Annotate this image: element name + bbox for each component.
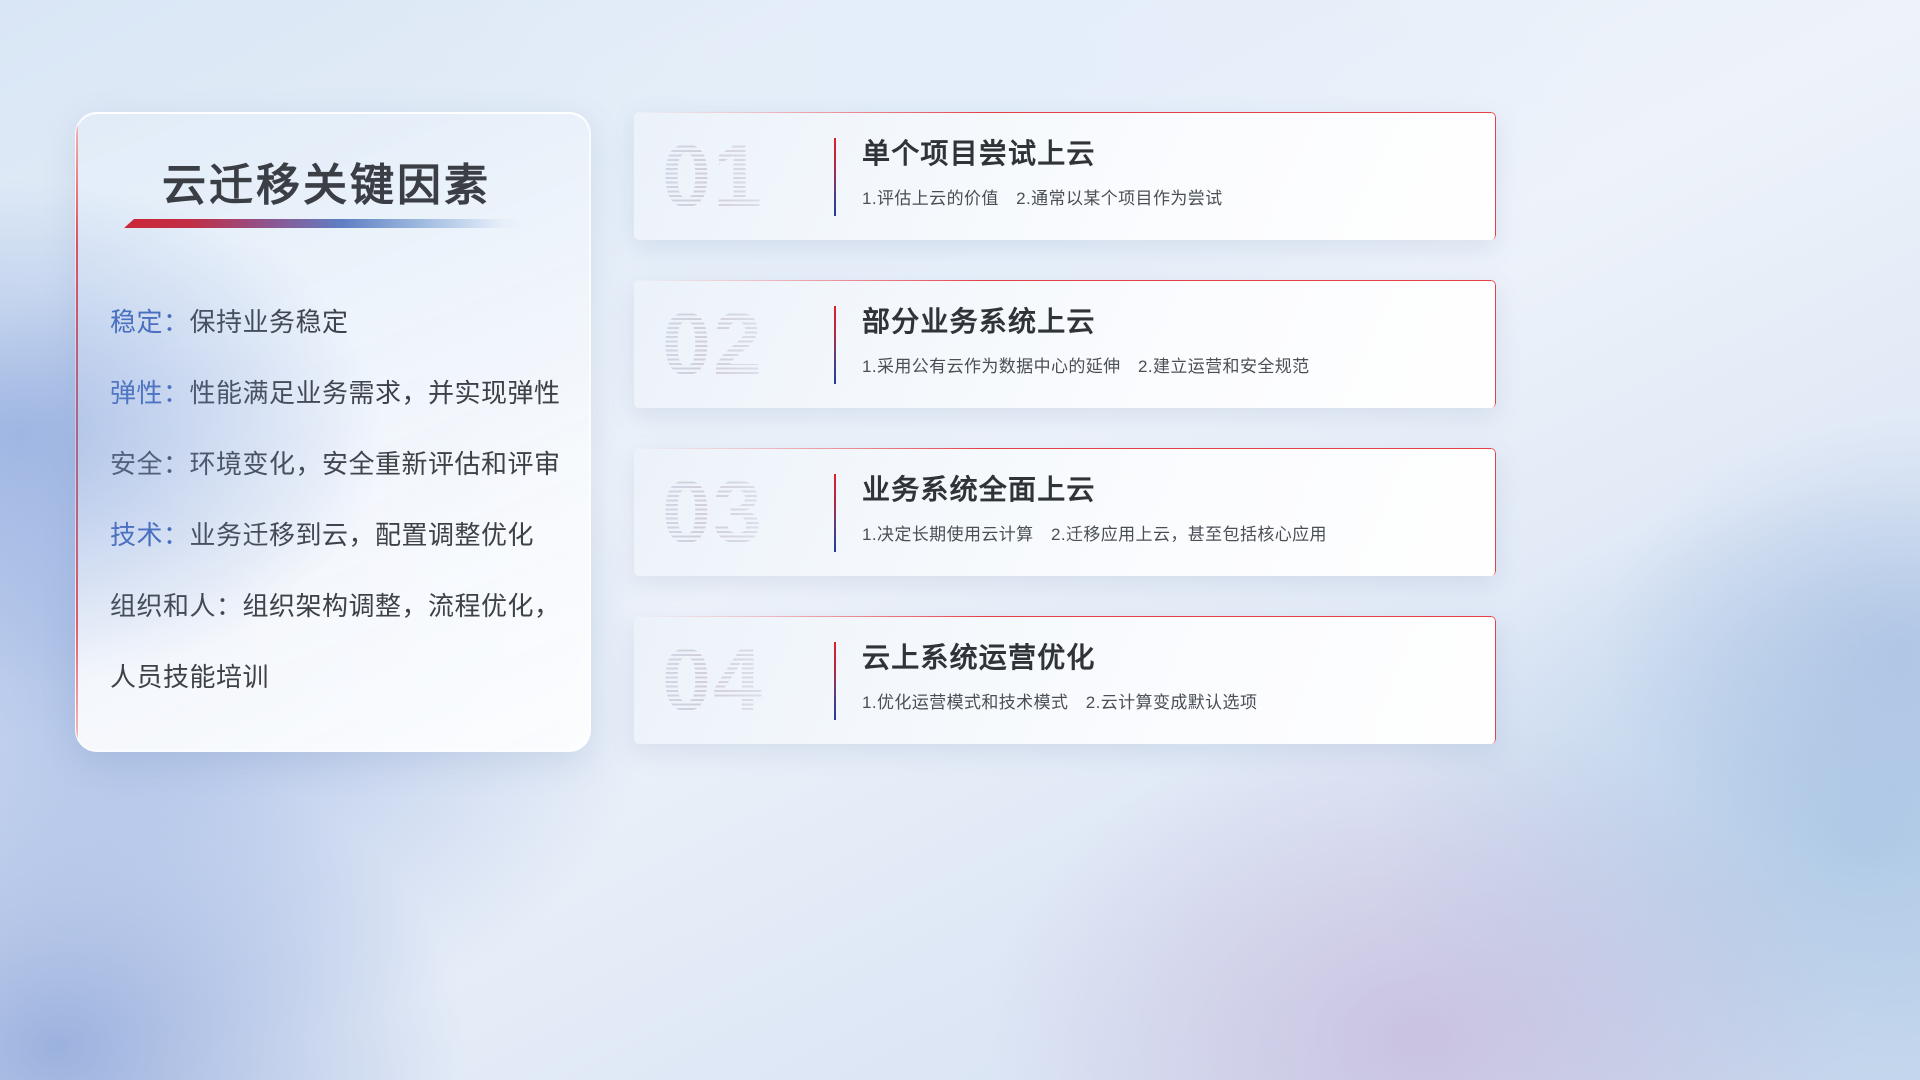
stage-index-number: 03 bbox=[662, 468, 764, 556]
factor-text: 环境变化，安全重新评估和评审 bbox=[190, 449, 561, 479]
stage-index-number: 04 bbox=[662, 636, 764, 724]
stage-card-description: 1.决定长期使用云计算 2.迁移应用上云，甚至包括核心应用 bbox=[862, 520, 1472, 545]
stage-card-title: 部分业务系统上云 bbox=[862, 304, 1472, 339]
stage-divider-bar bbox=[834, 474, 836, 552]
factor-list: 稳定：保持业务稳定 弹性：性能满足业务需求，并实现弹性 安全：环境变化，安全重新… bbox=[110, 309, 568, 690]
stage-card-title: 单个项目尝试上云 bbox=[862, 136, 1472, 171]
stage-divider-bar bbox=[834, 642, 836, 720]
factor-key: 弹性： bbox=[110, 378, 190, 408]
factor-item-organization-cont: 人员技能培训 bbox=[110, 664, 568, 690]
factor-item-organization: 组织和人：组织架构调整，流程优化， bbox=[110, 593, 568, 619]
factor-item-stability: 稳定：保持业务稳定 bbox=[110, 309, 568, 335]
stage-divider-bar bbox=[834, 306, 836, 384]
stage-card-04[interactable]: 04 云上系统运营优化 1.优化运营模式和技术模式 2.云计算变成默认选项 bbox=[634, 616, 1496, 744]
stage-card-body: 业务系统全面上云 1.决定长期使用云计算 2.迁移应用上云，甚至包括核心应用 bbox=[862, 472, 1472, 545]
factor-item-security: 安全：环境变化，安全重新评估和评审 bbox=[110, 451, 568, 477]
stage-card-title: 云上系统运营优化 bbox=[862, 640, 1472, 675]
stage-card-02[interactable]: 02 部分业务系统上云 1.采用公有云作为数据中心的延伸 2.建立运营和安全规范 bbox=[634, 280, 1496, 408]
stage-index-ghost: 01 bbox=[634, 112, 844, 240]
stage-card-description: 1.评估上云的价值 2.通常以某个项目作为尝试 bbox=[862, 184, 1472, 209]
factor-item-technology: 技术：业务迁移到云，配置调整优化 bbox=[110, 522, 568, 548]
stage-index-ghost: 03 bbox=[634, 448, 844, 576]
factor-key: 组织和人： bbox=[110, 591, 243, 621]
slide-canvas: 云迁移关键因素 稳定：保持业务稳定 弹性：性能满足业务需求，并实现弹性 安全：环… bbox=[0, 0, 1920, 1080]
stage-card-body: 云上系统运营优化 1.优化运营模式和技术模式 2.云计算变成默认选项 bbox=[862, 640, 1472, 713]
migration-stage-card-list: 01 单个项目尝试上云 1.评估上云的价值 2.通常以某个项目作为尝试 02 部… bbox=[634, 112, 1496, 744]
stage-card-body: 部分业务系统上云 1.采用公有云作为数据中心的延伸 2.建立运营和安全规范 bbox=[862, 304, 1472, 377]
stage-card-body: 单个项目尝试上云 1.评估上云的价值 2.通常以某个项目作为尝试 bbox=[862, 136, 1472, 209]
stage-divider-bar bbox=[834, 138, 836, 216]
factor-text: 保持业务稳定 bbox=[190, 307, 349, 337]
factor-text: 性能满足业务需求，并实现弹性 bbox=[190, 378, 561, 408]
key-factors-panel: 云迁移关键因素 稳定：保持业务稳定 弹性：性能满足业务需求，并实现弹性 安全：环… bbox=[75, 112, 591, 752]
stage-index-ghost: 04 bbox=[634, 616, 844, 744]
stage-index-ghost: 02 bbox=[634, 280, 844, 408]
factor-text: 业务迁移到云，配置调整优化 bbox=[190, 520, 535, 550]
stage-card-description: 1.采用公有云作为数据中心的延伸 2.建立运营和安全规范 bbox=[862, 352, 1472, 377]
title-underline-rule bbox=[124, 219, 529, 228]
factor-text: 组织架构调整，流程优化， bbox=[243, 591, 561, 621]
page-title: 云迁移关键因素 bbox=[162, 149, 491, 213]
factor-key: 安全： bbox=[110, 449, 190, 479]
stage-card-01[interactable]: 01 单个项目尝试上云 1.评估上云的价值 2.通常以某个项目作为尝试 bbox=[634, 112, 1496, 240]
stage-card-title: 业务系统全面上云 bbox=[862, 472, 1472, 507]
factor-item-elasticity: 弹性：性能满足业务需求，并实现弹性 bbox=[110, 380, 568, 406]
factor-key: 技术： bbox=[110, 520, 190, 550]
factor-text: 人员技能培训 bbox=[110, 662, 269, 692]
stage-card-03[interactable]: 03 业务系统全面上云 1.决定长期使用云计算 2.迁移应用上云，甚至包括核心应… bbox=[634, 448, 1496, 576]
factor-key: 稳定： bbox=[110, 307, 190, 337]
stage-index-number: 01 bbox=[662, 132, 764, 220]
stage-card-description: 1.优化运营模式和技术模式 2.云计算变成默认选项 bbox=[862, 688, 1472, 713]
stage-index-number: 02 bbox=[662, 300, 764, 388]
